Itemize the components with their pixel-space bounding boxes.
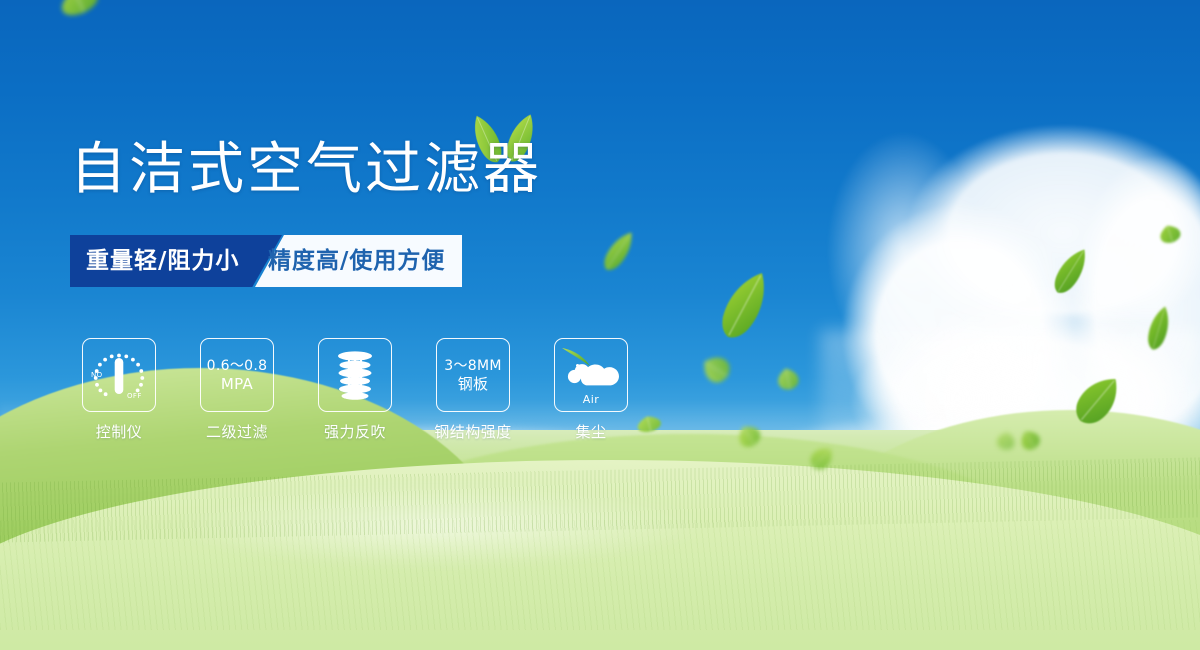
feature-label-pulse-jet: 强力反吹: [324, 421, 386, 442]
pressure-unit-text: MPA: [221, 375, 253, 393]
leaf-sky-3: [696, 348, 737, 390]
leaf-top-left: [52, 0, 106, 23]
leaf-cloud-3: [1142, 303, 1176, 353]
leaf-sky-2: [710, 263, 780, 347]
leaf-cloud-2: [1046, 242, 1096, 300]
feature-item-dust[interactable]: Air 集尘: [554, 338, 628, 442]
feature-item-controller[interactable]: NO OFF 控制仪: [82, 338, 156, 442]
steel-thickness-text: 3～8MM: [444, 357, 501, 375]
steel-material-text: 钢板: [458, 375, 489, 393]
feature-box-controller[interactable]: NO OFF: [82, 338, 156, 412]
cloud-air-icon: [560, 346, 622, 392]
feature-label-dust: 集尘: [575, 421, 606, 442]
grass-field: [0, 430, 1200, 650]
feature-item-two-stage[interactable]: 0.6～0.8 MPA 二级过滤: [200, 338, 274, 442]
leaf-sky-1: [597, 226, 641, 276]
filter-rings-icon: [327, 347, 383, 403]
feature-label-two-stage: 二级过滤: [206, 421, 268, 442]
page-title: 自洁式空气过滤器: [70, 140, 542, 200]
feature-list: NO OFF 控制仪 0.6～0.8 MPA 二级过滤: [82, 338, 628, 442]
svg-text:OFF: OFF: [127, 392, 142, 400]
feature-box-steel[interactable]: 3～8MM 钢板: [436, 338, 510, 412]
feature-box-dust[interactable]: Air: [554, 338, 628, 412]
pressure-range-text: 0.6～0.8: [207, 357, 268, 375]
hero-banner: 自洁式空气过滤器 重量轻/阻力小 精度高/使用方便: [0, 0, 1200, 650]
leaf-sky-4: [773, 366, 803, 393]
field-highlight: [80, 470, 980, 610]
feature-box-two-stage[interactable]: 0.6～0.8 MPA: [200, 338, 274, 412]
feature-label-steel: 钢结构强度: [434, 421, 512, 442]
feature-item-pulse-jet[interactable]: 强力反吹: [318, 338, 392, 442]
gauge-icon: NO OFF: [89, 346, 149, 404]
feature-label-controller: 控制仪: [96, 421, 143, 442]
feature-item-steel[interactable]: 3～8MM 钢板 钢结构强度: [436, 338, 510, 442]
feature-box-pulse-jet[interactable]: [318, 338, 392, 412]
subtitle-ribbon: 重量轻/阻力小 精度高/使用方便: [70, 235, 462, 287]
svg-text:NO: NO: [91, 371, 103, 379]
subtitle-left-text: 重量轻/阻力小: [86, 235, 239, 287]
subtitle-right-text: 精度高/使用方便: [268, 235, 445, 287]
leaf-cloud-1: [1155, 221, 1185, 246]
air-label: Air: [583, 393, 600, 406]
